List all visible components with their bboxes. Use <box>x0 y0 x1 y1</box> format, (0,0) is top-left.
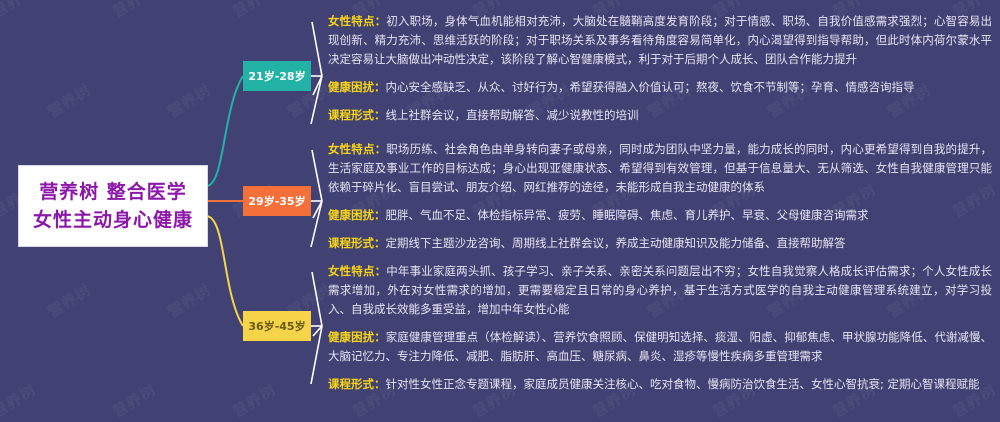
row-label: 课程形式 <box>328 108 374 122</box>
age-group-box-29-35[interactable]: 29岁-35岁 <box>243 186 311 216</box>
row-trouble: 健康困扰：肥胖、气血不足、体检指标异常、疲劳、睡眠障碍、焦虑、育儿养护、早衰、父… <box>328 206 992 225</box>
row-course: 课程形式：定期线下主题沙龙咨询、周期线上社群会议，养成主动健康知识及能力储备、直… <box>328 234 992 253</box>
row-colon: ： <box>374 80 386 94</box>
branch-content-21-28: 女性特点：初入职场，身体气血机能相对充沛，大脑处在髓鞘高度发育阶段；对于情感、职… <box>328 12 992 125</box>
row-label: 健康困扰 <box>328 208 374 222</box>
row-colon: ： <box>374 330 386 344</box>
row-value: 线上社群会议，直接帮助解答、减少说教性的培训 <box>386 108 639 122</box>
row-value: 家庭健康管理重点（体检解读）、营养饮食照顾、保健明知选择、痰湿、阳虚、抑郁焦虑、… <box>328 330 992 363</box>
row-colon: ： <box>375 264 387 278</box>
row-label: 课程形式 <box>328 377 374 391</box>
row-colon: ： <box>374 377 386 391</box>
row-label: 女性特点 <box>328 264 375 278</box>
trunk-line-0 <box>206 76 243 186</box>
row-value: 初入职场，身体气血机能相对充沛，大脑处在髓鞘高度发育阶段；对于情感、职场、自我价… <box>328 14 992 66</box>
row-value: 中年事业家庭两头抓、孩子学习、亲子关系、亲密关系问题层出不穷；女性自我觉察人格成… <box>328 264 992 316</box>
row-feature: 女性特点：职场历练、社会角色由单身转向妻子或母亲，同时成为团队中坚力量，能力成长… <box>328 140 992 197</box>
age-group-box-36-45[interactable]: 36岁-45岁 <box>243 311 311 341</box>
fan-connector-1 <box>311 150 322 247</box>
row-colon: ： <box>375 14 387 28</box>
row-trouble: 健康困扰：家庭健康管理重点（体检解读）、营养饮食照顾、保健明知选择、痰湿、阳虚、… <box>328 328 992 366</box>
row-value: 职场历练、社会角色由单身转向妻子或母亲，同时成为团队中坚力量，能力成长的同时，内… <box>328 142 992 194</box>
row-value: 针对性女性正念专题课程，家庭成员健康关注核心、吃对食物、慢病防治饮食生活、女性心… <box>386 377 980 391</box>
age-group-label: 21岁-28岁 <box>248 68 305 84</box>
central-node[interactable]: 营养树 整合医学 女性主动身心健康 <box>18 165 208 247</box>
row-trouble: 健康困扰：内心安全感缺乏、从众、讨好行为，希望获得融入价值认可；熬夜、饮食不节制… <box>328 78 992 97</box>
row-value: 肥胖、气血不足、体检指标异常、疲劳、睡眠障碍、焦虑、育儿养护、早衰、父母健康咨询… <box>386 208 869 222</box>
row-feature: 女性特点：中年事业家庭两头抓、孩子学习、亲子关系、亲密关系问题层出不穷；女性自我… <box>328 262 992 319</box>
row-course: 课程形式：针对性女性正念专题课程，家庭成员健康关注核心、吃对食物、慢病防治饮食生… <box>328 375 992 394</box>
age-group-box-21-28[interactable]: 21岁-28岁 <box>243 61 311 91</box>
central-node-line-1: 营养树 整合医学 <box>39 178 187 207</box>
row-label: 课程形式 <box>328 236 374 250</box>
row-label: 健康困扰 <box>328 80 374 94</box>
row-label: 女性特点 <box>328 142 375 156</box>
branch-content-36-45: 女性特点：中年事业家庭两头抓、孩子学习、亲子关系、亲密关系问题层出不穷；女性自我… <box>328 262 992 394</box>
row-course: 课程形式：线上社群会议，直接帮助解答、减少说教性的培训 <box>328 106 992 125</box>
fan-connector-2 <box>311 272 322 384</box>
trunk-line-2 <box>206 216 243 326</box>
row-colon: ： <box>375 142 387 156</box>
age-group-label: 36岁-45岁 <box>248 318 305 334</box>
branch-content-29-35: 女性特点：职场历练、社会角色由单身转向妻子或母亲，同时成为团队中坚力量，能力成长… <box>328 140 992 253</box>
fan-connector-0 <box>311 22 322 124</box>
row-label: 女性特点 <box>328 14 375 28</box>
row-label: 健康困扰 <box>328 330 374 344</box>
central-node-line-2: 女性主动身心健康 <box>33 206 193 235</box>
age-group-label: 29岁-35岁 <box>248 193 305 209</box>
row-feature: 女性特点：初入职场，身体气血机能相对充沛，大脑处在髓鞘高度发育阶段；对于情感、职… <box>328 12 992 69</box>
row-value: 定期线下主题沙龙咨询、周期线上社群会议，养成主动健康知识及能力储备、直接帮助解答 <box>386 236 846 250</box>
row-colon: ： <box>374 108 386 122</box>
row-colon: ： <box>374 208 386 222</box>
row-colon: ： <box>374 236 386 250</box>
row-value: 内心安全感缺乏、从众、讨好行为，希望获得融入价值认可；熬夜、饮食不节制等；孕育、… <box>386 80 915 94</box>
